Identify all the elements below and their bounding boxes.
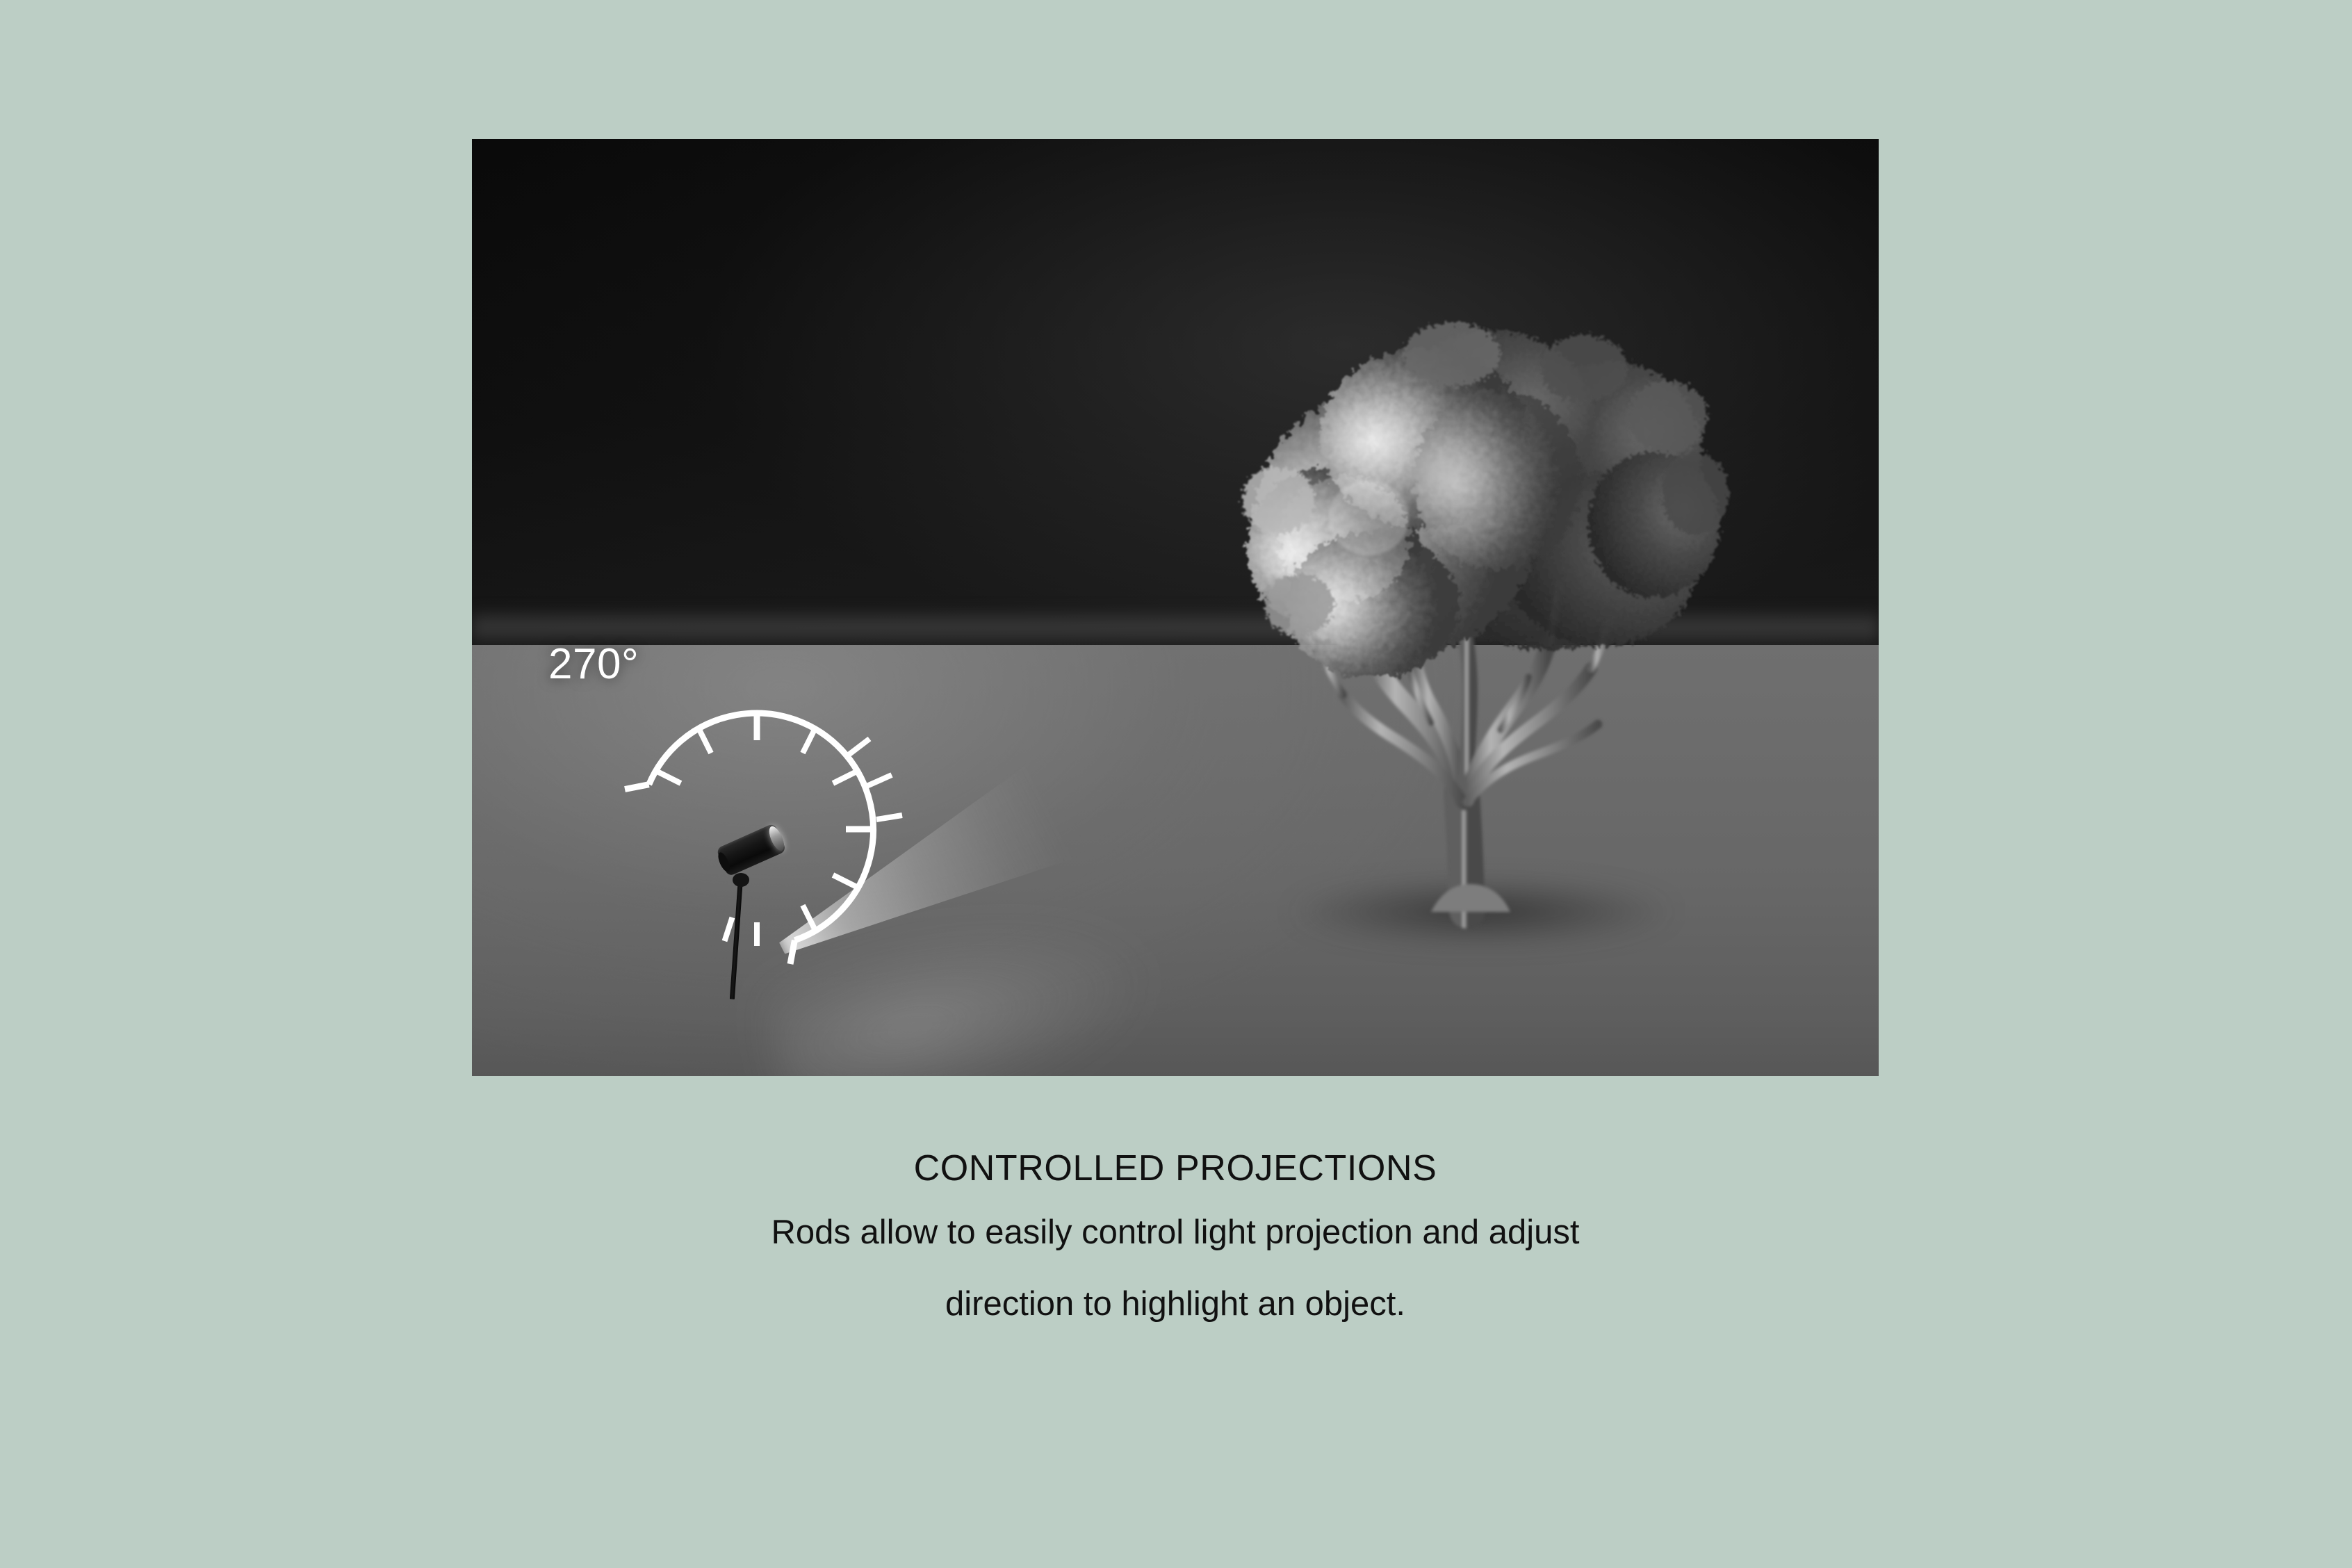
caption-line-2: direction to highlight an object. <box>472 1287 1879 1321</box>
tilt-knuckle <box>733 873 749 887</box>
mounting-rod <box>730 879 743 999</box>
caption-title: CONTROLLED PROJECTIONS <box>472 1150 1879 1186</box>
spotlight-on-rod[interactable] <box>719 840 803 999</box>
hero-render-image: 270° <box>472 139 1879 1076</box>
scene-floor-plane <box>472 645 1879 1076</box>
floor-horizon-seam <box>472 613 1879 645</box>
caption-block: CONTROLLED PROJECTIONS Rods allow to eas… <box>472 1150 1879 1321</box>
angle-value-label: 270° <box>548 643 639 686</box>
caption-line-1: Rods allow to easily control light proje… <box>472 1216 1879 1250</box>
page-canvas: 270° <box>0 0 2352 1568</box>
